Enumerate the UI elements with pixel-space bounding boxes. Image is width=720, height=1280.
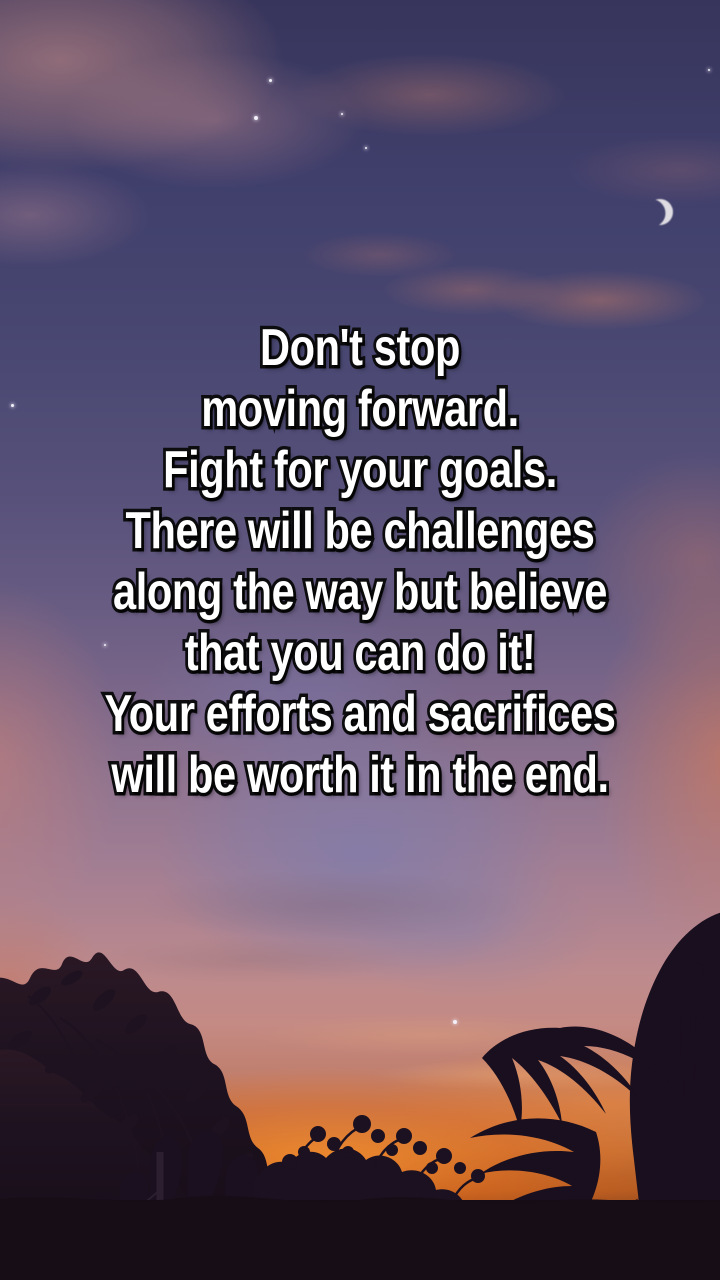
star-icon <box>365 147 367 149</box>
star-icon <box>104 644 106 646</box>
foreground-silhouette <box>0 900 720 1280</box>
star-icon <box>341 113 343 115</box>
star-icon <box>708 69 710 71</box>
star-icon <box>11 404 14 407</box>
ground-mass <box>0 1196 720 1280</box>
quote-poster: Don't stopmoving forward.Fight for your … <box>0 0 720 1280</box>
star-icon <box>269 79 272 82</box>
star-icon <box>254 116 258 120</box>
